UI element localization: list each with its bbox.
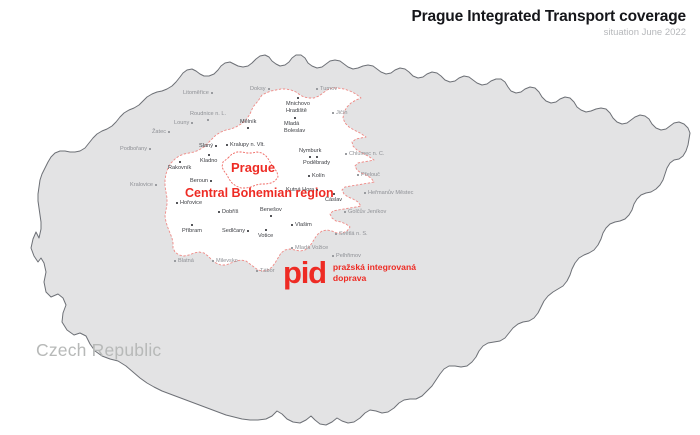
city-name: Benešov: [260, 207, 282, 213]
city-label: Kralovice: [130, 182, 153, 188]
pid-tagline-line1: pražská integrovaná: [333, 262, 416, 272]
city-marker-dot: [176, 202, 178, 204]
city-name: Podbořany: [120, 146, 147, 152]
city-marker-dot: [270, 215, 272, 217]
city-marker-dot: [208, 154, 210, 156]
city-name: Blatná: [178, 258, 194, 264]
city-marker-dot: [207, 119, 209, 121]
city-name: Nymburk: [299, 148, 321, 154]
city-marker-dot: [335, 233, 337, 235]
city-label: Kolín: [312, 173, 325, 179]
city-name: Mnichovo: [286, 101, 310, 108]
city-marker-dot: [218, 211, 220, 213]
country-label: Czech Republic: [36, 340, 161, 361]
region-label-central-bohemia: Central Bohemian region: [185, 186, 334, 200]
city-name: Beroun: [190, 178, 208, 184]
page-title: Prague Integrated Transport coverage: [411, 8, 686, 25]
country-outline-czechia: [31, 55, 690, 425]
city-name: Světlá n. S.: [339, 231, 368, 237]
city-name: Litoměřice: [183, 90, 209, 96]
city-name: Kralupy n. Vlt.: [230, 142, 265, 148]
city-marker-dot: [226, 144, 228, 146]
region-label-prague: Prague: [231, 160, 275, 175]
city-label: Přelouč: [361, 172, 380, 178]
city-name: Louny: [174, 120, 189, 126]
city-name: Golčův Jeníkov: [348, 209, 386, 215]
city-marker-dot: [247, 230, 249, 232]
city-label: Mladá Vožice: [295, 245, 328, 251]
city-marker-dot: [297, 97, 299, 99]
city-label: Poděbrady: [303, 160, 330, 166]
city-marker-dot: [191, 224, 193, 226]
city-name: Slaný: [199, 143, 213, 149]
city-label: Slaný: [199, 143, 213, 149]
city-label: Vlašim: [295, 222, 312, 228]
city-label: Milevsko: [216, 258, 238, 264]
czech-republic-map: [0, 0, 700, 435]
city-name: Tábor: [260, 268, 275, 274]
city-marker-dot: [191, 122, 193, 124]
city-label: Louny: [174, 120, 189, 126]
city-name: Turnov: [320, 86, 337, 92]
city-name: Doksy: [250, 86, 266, 92]
city-marker-dot: [291, 247, 293, 249]
city-marker-dot: [332, 255, 334, 257]
city-label: Turnov: [320, 86, 337, 92]
city-marker-dot: [174, 260, 176, 262]
city-marker-dot: [211, 92, 213, 94]
city-marker-dot: [212, 260, 214, 262]
city-label: Tábor: [260, 268, 275, 274]
city-label: MladáBoleslav: [284, 121, 305, 135]
city-name: Mělník: [240, 119, 256, 125]
city-marker-dot: [344, 211, 346, 213]
pid-logo: pid pražská integrovaná doprava: [283, 258, 416, 287]
city-label: Votice: [258, 233, 273, 239]
city-name: Roudnice n. L.: [190, 111, 226, 117]
city-marker-dot: [268, 88, 270, 90]
city-name: Kralovice: [130, 182, 153, 188]
city-name: Přelouč: [361, 172, 380, 178]
city-marker-dot: [256, 270, 258, 272]
city-name: Mladá Vožice: [295, 245, 328, 251]
city-label: Žatec: [152, 129, 166, 135]
city-name: Votice: [258, 233, 273, 239]
city-label: Blatná: [178, 258, 194, 264]
city-label: Mělník: [240, 119, 256, 125]
city-name: Jičín: [336, 110, 348, 116]
city-name: Rakovník: [168, 165, 191, 171]
city-label: Rakovník: [168, 165, 191, 171]
city-marker-dot: [210, 180, 212, 182]
city-name: Poděbrady: [303, 160, 330, 166]
city-label: Roudnice n. L.: [190, 111, 226, 117]
city-marker-dot: [316, 88, 318, 90]
city-label: Beroun: [190, 178, 208, 184]
city-label: Sedlčany: [222, 228, 245, 234]
city-label: MnichovoHradiště: [286, 101, 310, 115]
pid-wordmark: pid: [283, 258, 326, 287]
city-name: Vlašim: [295, 222, 312, 228]
city-label: Kralupy n. Vlt.: [230, 142, 265, 148]
city-name: Milevsko: [216, 258, 238, 264]
city-name: Mladá: [284, 121, 305, 128]
city-marker-dot: [291, 224, 293, 226]
city-name: Kolín: [312, 173, 325, 179]
city-marker-dot: [179, 161, 181, 163]
city-marker-dot: [364, 192, 366, 194]
city-marker-dot: [155, 184, 157, 186]
city-label: Chlumec n. C.: [349, 151, 384, 157]
city-marker-dot: [316, 156, 318, 158]
pid-tagline-line2: doprava: [333, 273, 416, 283]
city-name: Žatec: [152, 129, 166, 135]
city-label: Litoměřice: [183, 90, 209, 96]
city-label: Podbořany: [120, 146, 147, 152]
city-label: Hořovice: [180, 200, 202, 206]
city-name: Sedlčany: [222, 228, 245, 234]
city-marker-dot: [357, 174, 359, 176]
city-label: Benešov: [260, 207, 282, 213]
page-subtitle: situation June 2022: [411, 28, 686, 38]
city-name: Heřmanův Městec: [368, 190, 413, 196]
city-marker-dot: [215, 145, 217, 147]
city-name: Příbram: [182, 228, 202, 234]
city-name-second-line: Boleslav: [284, 128, 305, 135]
pid-tagline: pražská integrovaná doprava: [333, 262, 416, 283]
city-label: Jičín: [336, 110, 348, 116]
city-marker-dot: [345, 153, 347, 155]
city-name: Chlumec n. C.: [349, 151, 384, 157]
city-name: Dobříš: [222, 209, 238, 215]
city-marker-dot: [294, 117, 296, 119]
city-marker-dot: [308, 175, 310, 177]
city-name: Hořovice: [180, 200, 202, 206]
header: Prague Integrated Transport coverage sit…: [411, 8, 686, 38]
city-marker-dot: [247, 127, 249, 129]
city-name: Kladno: [200, 158, 217, 164]
map-screenshot: Prague Integrated Transport coverage sit…: [0, 0, 700, 435]
city-marker-dot: [265, 229, 267, 231]
city-label: Heřmanův Městec: [368, 190, 413, 196]
city-marker-dot: [309, 156, 311, 158]
city-marker-dot: [168, 131, 170, 133]
city-label: Dobříš: [222, 209, 238, 215]
city-name-second-line: Hradiště: [286, 108, 310, 115]
city-label: Příbram: [182, 228, 202, 234]
city-label: Golčův Jeníkov: [348, 209, 386, 215]
city-label: Světlá n. S.: [339, 231, 368, 237]
city-marker-dot: [332, 112, 334, 114]
city-label: Nymburk: [299, 148, 321, 154]
city-marker-dot: [149, 148, 151, 150]
city-label: Doksy: [250, 86, 266, 92]
city-label: Kladno: [200, 158, 217, 164]
